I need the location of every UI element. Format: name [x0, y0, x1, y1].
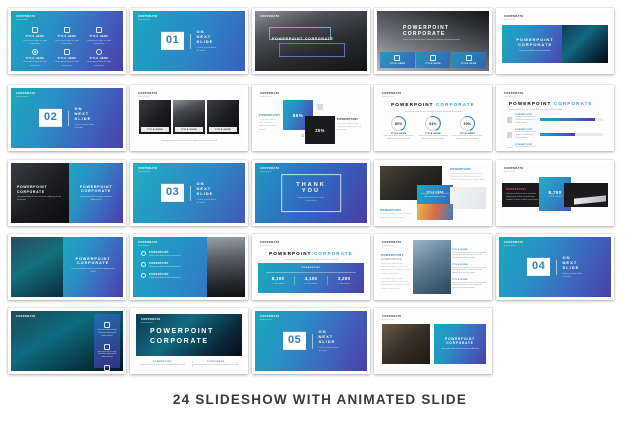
bar-icon — [507, 132, 512, 138]
text-panel: POWERPOINT CORPORATE Lorem ipsum dolor s… — [502, 25, 568, 63]
slide-title-2: CORPORATE — [71, 261, 115, 265]
slide-row-5: CORPORATE Lorem ipsum dolor sit amet, co… — [8, 308, 492, 374]
slide-logo: CORPORATE powerpoint — [138, 15, 158, 22]
check-icon — [141, 251, 146, 256]
slide-logo: CORPORATE powerpoint — [141, 318, 161, 325]
slide-thumbnail-6[interactable]: CORPORATE powerpoint 02 ON NEXT SLIDE Lo… — [8, 85, 126, 151]
team-member-photo: TITLE HERE — [207, 100, 239, 134]
slide-photo: CORPORATE powerpoint POWERPOINT CORPORAT… — [136, 314, 242, 356]
slide-row-3: POWERPOINT CORPORATE Lorem ipsum dolor s… — [8, 160, 614, 226]
thank-you-box: THANK YOU Lorem ipsum dolor sit amet con… — [281, 174, 341, 212]
slide-logo: CORPORATE powerpoint — [260, 241, 280, 248]
slide-logo: CORPORATE powerpoint — [16, 92, 36, 99]
section-label: ON NEXT SLIDE — [75, 106, 95, 121]
slide-photo: POWERPOINT CORPORATE Lorem ipsum dolor s… — [11, 163, 69, 223]
team-caption: Lorem ipsum dolor sit amet consectetur a… — [149, 140, 229, 143]
progress-ring: 80% — [391, 116, 406, 131]
slide-thumbnail-22[interactable]: CORPORATE powerpoint POWERPOINT CORPORAT… — [130, 308, 248, 374]
section-header: 05 ON NEXT SLIDE Lorem ipsum dolor sit a… — [283, 329, 339, 353]
stat-value: 8,700 — [549, 190, 562, 195]
slide-thumbnail-15[interactable]: CORPORATE powerpoint POWERPOINT Lorem ip… — [496, 160, 614, 226]
slide-thumbnail-11[interactable]: POWERPOINT CORPORATE Lorem ipsum dolor s… — [8, 160, 126, 226]
text-panel: POWERPOINT CORPORATE Lorem ipsum dolor s… — [63, 237, 123, 297]
section-number: 04 — [527, 258, 550, 276]
slide-desc: Lorem ipsum dolor sit amet, consectetur … — [403, 39, 460, 42]
slide-title-2: CORPORATE — [440, 341, 480, 345]
bottom-text: POWERPOINT Lorem ipsum dolor sit amet, c… — [380, 209, 414, 220]
overlay-card: TITLE HERE Lorem ipsum dolor sit amet, c… — [417, 185, 453, 205]
slide-photo — [450, 187, 486, 209]
slide-logo: CORPORATE powerpoint — [260, 92, 280, 99]
slide-thumbnail-23[interactable]: CORPORATE powerpoint 05 ON NEXT SLIDE Lo… — [252, 308, 370, 374]
slide-title-2: CORPORATE — [510, 42, 560, 47]
slide-logo: CORPORATE — [16, 315, 36, 319]
globe-icon — [96, 49, 102, 55]
side-item: TITLE HERE Lorem ipsum dolor sit amet, c… — [452, 279, 486, 290]
progress-track — [540, 118, 603, 121]
section-header: 04 ON NEXT SLIDE Lorem ipsum dolor sit a… — [527, 255, 583, 279]
decor-square — [317, 104, 323, 110]
thank-you-heading: THANK YOU — [296, 182, 326, 194]
slide-thumbnail-21[interactable]: CORPORATE Lorem ipsum dolor sit amet, co… — [8, 308, 126, 374]
slide-thumbnail-1[interactable]: CORPORATE powerpoint TITLE HERE Lorem ip… — [8, 8, 126, 74]
slide-photo — [562, 25, 608, 63]
right-text: POWERPOINT Lorem ipsum dolor sit amet, c… — [337, 118, 363, 133]
slide-thumbnail-16[interactable]: POWERPOINT CORPORATE Lorem ipsum dolor s… — [8, 234, 126, 300]
slide-title: POWERPOINT CORPORATE — [377, 102, 489, 109]
slide-thumbnail-14[interactable]: TITLE HERE Lorem ipsum dolor sit amet, c… — [374, 160, 492, 226]
slide-desc: Lorem ipsum dolor sit amet consectetur a… — [77, 196, 115, 203]
feature-item: TITLE HERE Lorem ipsum dolor sit amet co… — [21, 49, 49, 68]
check-icon — [141, 273, 146, 278]
slide-photo — [413, 240, 451, 294]
doc-icon — [104, 365, 110, 371]
board-caption: 24 SLIDESHOW WITH ANIMATED SLIDE — [0, 392, 640, 407]
progress-ring: 64% — [425, 116, 440, 131]
slide-subtitle: Lorem ipsum dolor sit amet, consectetur … — [509, 109, 593, 111]
slide-thumbnail-17[interactable]: CORPORATE powerpoint POWERPOINTLorem ips… — [130, 234, 248, 300]
slide-thumbnail-7[interactable]: CORPORATE powerpoint TITLE HERE TITLE HE… — [130, 85, 248, 151]
section-sub: Lorem ipsum dolor sit amet — [319, 346, 339, 353]
slide-logo: CORPORATE powerpoint — [260, 315, 280, 322]
slide-row-2: CORPORATE powerpoint 02 ON NEXT SLIDE Lo… — [8, 85, 614, 151]
slide-photo — [417, 204, 453, 220]
section-label: ON NEXT SLIDE — [563, 255, 583, 270]
stat-item: 4,100 TITLE HERE — [294, 276, 328, 285]
slide-thumbnail-4[interactable]: POWERPOINT CORPORATE Lorem ipsum dolor s… — [374, 8, 492, 74]
check-icon — [141, 262, 146, 267]
ring-stat: 90% TITLE HERE Lorem ipsum dolor sit ame… — [452, 116, 483, 141]
stats-band: POWERPOINT 8,100 TITLE HERE 4,100 TITLE … — [258, 263, 364, 293]
text-panel: POWERPOINT CORPORATE Lorem ipsum dolor s… — [69, 163, 123, 223]
photo-card: TITLE HERE — [416, 52, 451, 68]
side-item: TITLE HERE Lorem ipsum dolor sit amet, c… — [452, 249, 486, 260]
checklist-item: POWERPOINTLorem ipsum dolor sit amet con… — [141, 262, 199, 269]
decor-square — [301, 134, 304, 137]
gear-icon — [104, 322, 110, 328]
slide-logo: CORPORATE powerpoint — [16, 15, 36, 22]
feature-panel: Lorem ipsum dolor sit amet, consectetur … — [94, 314, 120, 368]
section-number: 03 — [161, 184, 184, 202]
progress-bar-row: POWERPOINTLorem ipsum dolor sit amet, co… — [507, 114, 603, 125]
left-text: POWERPOINT Lorem ipsum dolor sit amet, c… — [259, 114, 281, 132]
section-header: 03 ON NEXT SLIDE Lorem ipsum dolor sit a… — [161, 181, 217, 205]
section-number: 01 — [161, 32, 184, 50]
slide-thumbnail-13[interactable]: CORPORATE powerpoint THANK YOU Lorem ips… — [252, 160, 370, 226]
chart-icon — [430, 55, 436, 61]
section-sub: Lorem ipsum dolor sit amet — [75, 123, 95, 130]
text-panel: POWERPOINT CORPORATE Lorem ipsum dolor s… — [434, 324, 486, 364]
feature-item: TITLE HERE Lorem ipsum dolor sit amet co… — [85, 49, 113, 68]
slide-logo: CORPORATE powerpoint — [138, 167, 158, 174]
slide-thumbnail-5[interactable]: CORPORATE powerpoint POWERPOINT CORPORAT… — [496, 8, 614, 74]
section-header: 02 ON NEXT SLIDE Lorem ipsum dolor sit a… — [39, 106, 95, 130]
article-text: POWERPOINT CORPORATE Lorem ipsum dolor s… — [381, 253, 411, 291]
ring-stat: 80% TITLE HERE Lorem ipsum dolor sit ame… — [383, 116, 414, 141]
slide-logo: CORPORATE powerpoint — [260, 167, 280, 174]
slide-thumbnail-18[interactable]: CORPORATE powerpoint POWERPOINT CORPORAT… — [252, 234, 370, 300]
slide-logo: CORPORATE powerpoint — [382, 315, 402, 322]
progress-bar-row: POWERPOINTLorem ipsum dolor sit amet, co… — [507, 129, 603, 140]
checklist-item: POWERPOINTLorem ipsum dolor sit amet con… — [141, 273, 199, 280]
shield-icon — [32, 27, 38, 33]
section-sub: Lorem ipsum dolor sit amet — [197, 198, 217, 205]
slide-photo — [207, 237, 245, 297]
checklist-item: POWERPOINTLorem ipsum dolor sit amet con… — [141, 251, 199, 258]
check-icon — [32, 49, 38, 55]
section-label: ON NEXT SLIDE — [197, 29, 217, 44]
slide-photo — [564, 183, 608, 207]
section-number: 05 — [283, 332, 306, 350]
slide-logo: CORPORATE powerpoint — [138, 92, 158, 99]
hero-title-2: CORPORATE — [150, 337, 214, 347]
hero-column: CORPORATE Lorem ipsum dolor sit amet con… — [192, 361, 240, 367]
ring-stat: 64% TITLE HERE Lorem ipsum dolor sit ame… — [417, 116, 448, 141]
slide-row-4: POWERPOINT CORPORATE Lorem ipsum dolor s… — [8, 234, 614, 300]
side-item: TITLE HERE Lorem ipsum dolor sit amet, c… — [452, 264, 486, 275]
slide-photo — [11, 237, 63, 297]
slide-title: POWERPOINT CORPORATE — [509, 101, 593, 108]
slide-desc: Lorem ipsum dolor sit amet consectetur a… — [440, 348, 480, 351]
slide-title-2: CORPORATE — [403, 31, 460, 37]
monitor-icon — [466, 55, 472, 61]
feature-item: Lorem ipsum dolor sit amet, consectetur … — [97, 322, 117, 339]
shield-icon — [394, 55, 400, 61]
slide-logo: CORPORATE powerpoint — [504, 241, 524, 248]
slideshow-preview-board: CORPORATE powerpoint TITLE HERE Lorem ip… — [0, 0, 640, 427]
slide-subtitle: Lorem ipsum dolor sit amet, consectetur … — [255, 259, 367, 261]
stat-item: 3,200 TITLE HERE — [328, 276, 360, 285]
slide-logo: CORPORATE powerpoint — [504, 15, 524, 22]
side-text: POWERPOINT Lorem ipsum dolor sit amet, c… — [450, 168, 486, 183]
slide-thumbnail-2[interactable]: CORPORATE powerpoint 01 ON NEXT SLIDE Lo… — [130, 8, 248, 74]
slide-desc: Lorem ipsum dolor sit amet consectetur — [510, 50, 560, 53]
section-header: 01 ON NEXT SLIDE Lorem ipsum dolor sit a… — [161, 29, 217, 53]
slide-thumbnail-19[interactable]: CORPORATE powerpoint POWERPOINT CORPORAT… — [374, 234, 492, 300]
slide-logo: CORPORATE — [260, 15, 280, 19]
hero-title: POWERPOINT — [150, 327, 214, 337]
slide-thumbnail-3[interactable]: CORPORATE POWERPOINT CORPORATE — [252, 8, 370, 74]
hero-column: POWERPOINT Lorem ipsum dolor sit amet co… — [139, 361, 186, 367]
progress-track — [540, 133, 603, 136]
slide-thumbnail-10[interactable]: CORPORATE powerpoint POWERPOINT CORPORAT… — [496, 85, 614, 151]
slide-thumbnail-20[interactable]: CORPORATE powerpoint 04 ON NEXT SLIDE Lo… — [496, 234, 614, 300]
photo-card: TITLE HERE — [451, 52, 486, 68]
slide-logo: CORPORATE powerpoint — [382, 92, 402, 99]
feature-item: Lorem ipsum dolor sit amet, consectetur … — [97, 365, 117, 371]
monitor-icon — [96, 27, 102, 33]
feature-item: TITLE HERE Lorem ipsum dolor sit amet co… — [53, 49, 81, 68]
slide-logo: CORPORATE powerpoint — [138, 241, 158, 248]
feature-item: TITLE HERE Lorem ipsum dolor sit amet co… — [85, 27, 113, 46]
bar-icon — [507, 147, 512, 148]
bar-icon — [507, 117, 512, 123]
section-number: 02 — [39, 109, 62, 127]
stat-label: TITLE HERE — [548, 196, 563, 198]
section-label: ON NEXT SLIDE — [197, 181, 217, 196]
stat-block-dark: 25% — [305, 116, 335, 144]
thank-you-sub: Lorem ipsum dolor sit amet consectetur — [296, 197, 326, 204]
slide-row-1: CORPORATE powerpoint TITLE HERE Lorem ip… — [8, 8, 614, 74]
slide-logo: CORPORATE powerpoint — [504, 92, 524, 99]
section-sub: Lorem ipsum dolor sit amet — [197, 46, 217, 53]
progress-bar-row: POWERPOINTLorem ipsum dolor sit amet, co… — [507, 144, 603, 148]
bulb-icon — [104, 344, 110, 350]
slide-thumbnail-9[interactable]: CORPORATE powerpoint POWERPOINT CORPORAT… — [374, 85, 492, 151]
photo-card: TITLE HERE — [380, 52, 415, 68]
slide-thumbnail-24[interactable]: CORPORATE powerpoint POWERPOINT CORPORAT… — [374, 308, 492, 374]
feature-item: TITLE HERE Lorem ipsum dolor sit amet co… — [53, 27, 81, 46]
section-sub: Lorem ipsum dolor sit amet — [563, 272, 583, 279]
slide-photo — [382, 324, 430, 364]
overlay-frame — [279, 43, 345, 57]
feature-item: TITLE HERE Lorem ipsum dolor sit amet co… — [21, 27, 49, 46]
chart-icon — [64, 27, 70, 33]
slide-logo: CORPORATE powerpoint — [504, 167, 524, 174]
slide-desc: Lorem ipsum dolor sit amet consectetur a… — [71, 268, 115, 275]
slide-title: POWERPOINT CORPORATE — [272, 37, 334, 41]
slide-title-2: CORPORATE — [77, 189, 115, 193]
section-label: ON NEXT SLIDE — [319, 329, 339, 344]
slide-logo: CORPORATE powerpoint — [382, 241, 402, 248]
slide-subtitle: Lorem ipsum dolor sit amet, consectetur … — [377, 111, 489, 113]
team-member-photo: TITLE HERE — [139, 100, 171, 134]
feature-item: Lorem ipsum dolor sit amet, consectetur … — [97, 344, 117, 361]
user-icon — [64, 49, 70, 55]
stat-item: 8,100 TITLE HERE — [262, 276, 294, 285]
slide-thumbnail-12[interactable]: CORPORATE powerpoint 03 ON NEXT SLIDE Lo… — [130, 160, 248, 226]
team-member-photo: TITLE HERE — [173, 100, 205, 134]
progress-ring: 90% — [460, 116, 475, 131]
slide-thumbnail-8[interactable]: CORPORATE powerpoint POWERPOINT Lorem ip… — [252, 85, 370, 151]
slide-title: POWERPOINT CORPORATE — [255, 251, 367, 258]
